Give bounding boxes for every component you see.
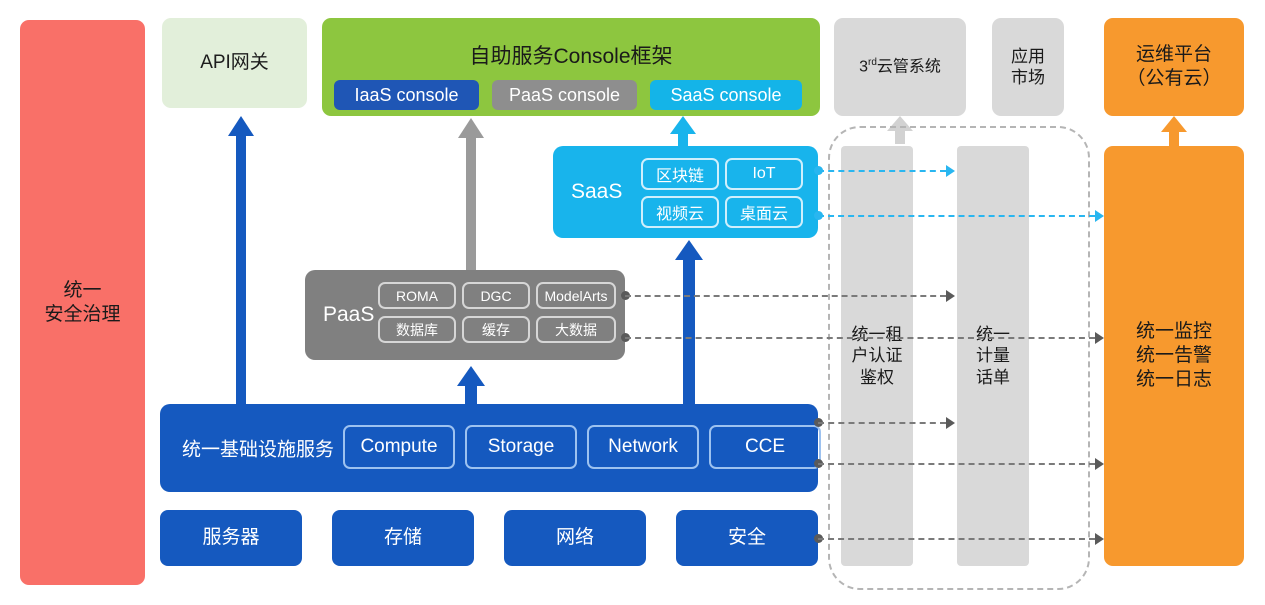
infra-chip-compute[interactable]: Compute [343,425,455,469]
infra-block-label: 统一基础设施服务 [182,435,334,462]
resource-tile-network[interactable]: 网络 [504,510,646,566]
connector-arrowhead [946,165,955,177]
self-service-console-frame: 自助服务Console框架 IaaS console PaaS console … [322,18,820,116]
connector-arrowhead [946,417,955,429]
saas-chip-desktop-cloud[interactable]: 桌面云 [725,196,803,228]
infra-chip-network[interactable]: Network [587,425,699,469]
arrow-infra-to-saas [676,240,702,408]
infra-chip-cce[interactable]: CCE [709,425,821,469]
resource-tile-server[interactable]: 服务器 [160,510,302,566]
arrow-to-ops-platform [1161,116,1187,146]
shared-column-metering-billing: 统一 计量 话单 [957,146,1029,566]
connector-infra-to-tenant-auth [818,422,946,424]
app-market-box: 应用 市场 [992,18,1064,116]
saas-block-label: SaaS [571,180,622,204]
paas-chip-roma[interactable]: ROMA [378,282,456,309]
connector-saas-to-tenant-auth [818,170,946,172]
paas-chip-cache[interactable]: 缓存 [462,316,530,343]
api-gateway-box: API网关 [162,18,307,108]
connector-resources-to-ops [818,538,1095,540]
iaas-console-button[interactable]: IaaS console [334,80,479,110]
paas-chip-bigdata[interactable]: 大数据 [536,316,616,343]
architecture-diagram: 统一 安全治理 API网关 自助服务Console框架 IaaS console… [0,0,1265,605]
console-frame-title: 自助服务Console框架 [322,40,820,70]
paas-chip-dgc[interactable]: DGC [462,282,530,309]
connector-arrowhead [1095,210,1104,222]
paas-console-button[interactable]: PaaS console [492,80,637,110]
arrow-infra-to-paas [458,366,484,408]
saas-console-button[interactable]: SaaS console [650,80,802,110]
ops-monitoring-panel: 统一监控 统一告警 统一日志 [1104,146,1244,566]
connector-arrowhead [946,290,955,302]
unified-infrastructure-services-block: 统一基础设施服务 Compute Storage Network CCE [160,404,818,492]
connector-saas-to-ops [818,215,1095,217]
ops-platform-box: 运维平台 （公有云） [1104,18,1244,116]
connector-arrowhead [1095,332,1104,344]
paas-chip-database[interactable]: 数据库 [378,316,456,343]
third-party-cloud-management-box: 3rd云管系统 [834,18,966,116]
connector-paas-to-ops [625,337,1095,339]
connector-infra-to-ops [818,463,1095,465]
saas-block: SaaS 区块链 IoT 视频云 桌面云 [553,146,818,238]
saas-chip-blockchain[interactable]: 区块链 [641,158,719,190]
paas-block-label: PaaS [323,303,374,327]
third-party-label: 3rd云管系统 [859,57,941,77]
connector-paas-to-tenant-auth [625,295,946,297]
infra-chip-storage[interactable]: Storage [465,425,577,469]
connector-arrowhead [1095,533,1104,545]
shared-column-tenant-auth: 统一租 户认证 鉴权 [841,146,913,566]
paas-block: PaaS ROMA DGC ModelArts 数据库 缓存 大数据 [305,270,625,360]
saas-chip-video-cloud[interactable]: 视频云 [641,196,719,228]
paas-chip-modelarts[interactable]: ModelArts [536,282,616,309]
connector-arrowhead [1095,458,1104,470]
resource-tile-storage[interactable]: 存储 [332,510,474,566]
arrow-infra-to-api-gateway [228,116,254,406]
resource-tile-security[interactable]: 安全 [676,510,818,566]
arrow-paas-to-console [458,118,484,270]
unified-security-governance-panel: 统一 安全治理 [20,20,145,585]
saas-chip-iot[interactable]: IoT [725,158,803,190]
